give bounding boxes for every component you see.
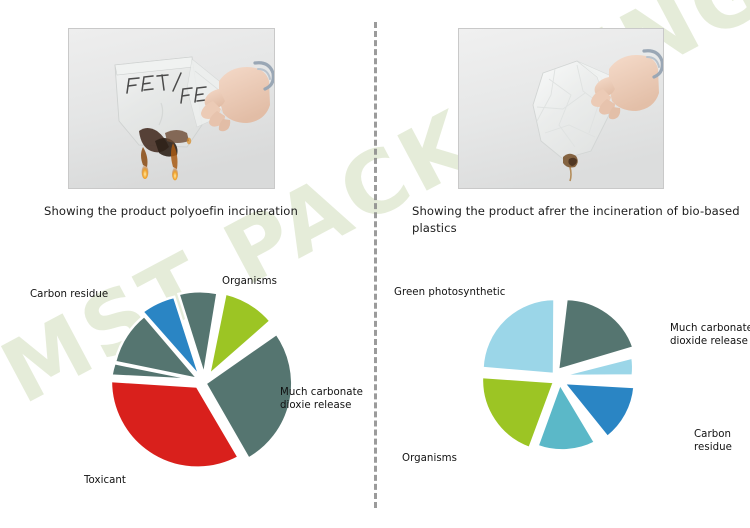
- photo-polyolefin-incineration: [68, 28, 275, 189]
- photo-polyolefin-illustration: [69, 29, 274, 188]
- right-label-much-carbonate: Much carbonate dioxide release: [670, 322, 750, 349]
- left-caption: Showing the product polyoefin incinerati…: [44, 203, 364, 220]
- right-pie-slices: [482, 299, 635, 450]
- right-panel: Showing the product afrer the incinerati…: [376, 0, 750, 528]
- left-panel: Showing the product polyoefin incinerati…: [0, 0, 374, 528]
- slice-green-photosynthetic: [483, 299, 555, 374]
- comparison-infographic: MST PACKAGING: [0, 0, 750, 528]
- photo-biobased-illustration: [459, 29, 663, 188]
- left-label-organisms: Organisms: [222, 275, 277, 288]
- right-label-green-photosynthetic: Green photosynthetic: [394, 286, 505, 299]
- left-label-toxicant: Toxicant: [84, 474, 126, 487]
- left-pie-slices: [111, 291, 292, 467]
- right-pie-svg: [394, 262, 746, 514]
- right-caption: Showing the product afrer the incinerati…: [412, 203, 742, 237]
- left-pie-chart: Carbon residue Organisms Much carbonate …: [26, 258, 374, 514]
- right-pie-chart: Green photosynthetic Much carbonate diox…: [394, 262, 746, 514]
- left-label-carbon-residue: Carbon residue: [30, 288, 108, 301]
- right-label-carbon-residue: Carbon residue: [694, 428, 746, 455]
- left-label-much-carbonate: Much carbonate dioxie release: [280, 386, 366, 413]
- photo-biobased-incineration: [458, 28, 664, 189]
- right-label-organisms: Organisms: [402, 452, 457, 465]
